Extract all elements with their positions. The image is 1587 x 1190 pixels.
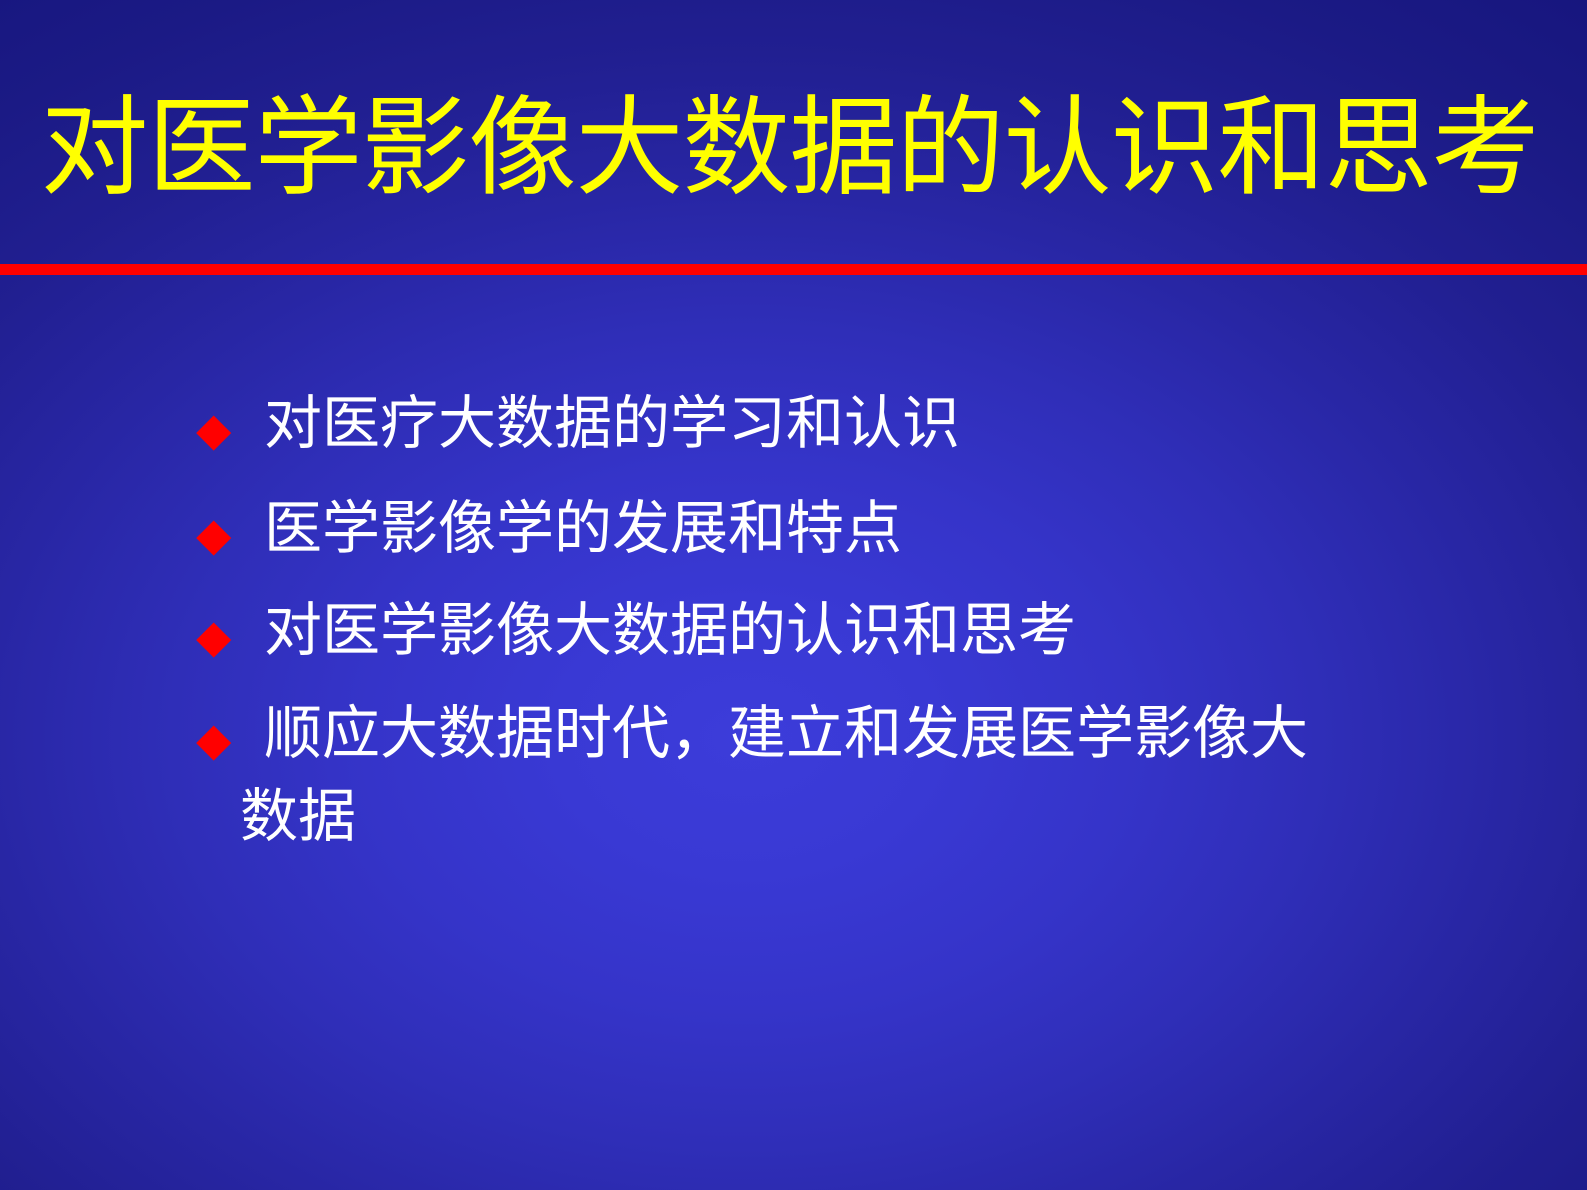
diamond-bullet-icon: ◆ bbox=[196, 597, 264, 671]
list-item: ◆ 对医学影像大数据的认识和思考 bbox=[196, 597, 1536, 671]
page-title: 对医学影像大数据的认识和思考 bbox=[0, 96, 1587, 204]
slide-title-area: 对医学影像大数据的认识和思考 bbox=[0, 0, 1587, 264]
list-item: ◆ 对医疗大数据的学习和认识 bbox=[196, 390, 1536, 464]
list-item-label: 顺应大数据时代，建立和发展医学影像大 bbox=[264, 700, 1536, 768]
list-item-label: 对医疗大数据的学习和认识 bbox=[264, 390, 1536, 458]
slide-body-area: ◆ 对医疗大数据的学习和认识 ◆ 医学影像学的发展和特点 ◆ 对医学影像大数据的… bbox=[0, 275, 1587, 1190]
title-divider-rule bbox=[0, 264, 1587, 275]
list-item-label: 对医学影像大数据的认识和思考 bbox=[264, 597, 1536, 665]
diamond-bullet-icon: ◆ bbox=[196, 700, 264, 774]
diamond-bullet-icon: ◆ bbox=[196, 390, 264, 464]
list-item: ◆ 医学影像学的发展和特点 bbox=[196, 495, 1536, 569]
list-item-label-continuation: 数据 bbox=[240, 783, 356, 851]
list-item-label: 医学影像学的发展和特点 bbox=[264, 495, 1536, 563]
diamond-bullet-icon: ◆ bbox=[196, 495, 264, 569]
presentation-slide: 对医学影像大数据的认识和思考 ◆ 对医疗大数据的学习和认识 ◆ 医学影像学的发展… bbox=[0, 0, 1587, 1190]
list-item: ◆ 顺应大数据时代，建立和发展医学影像大 bbox=[196, 700, 1536, 774]
